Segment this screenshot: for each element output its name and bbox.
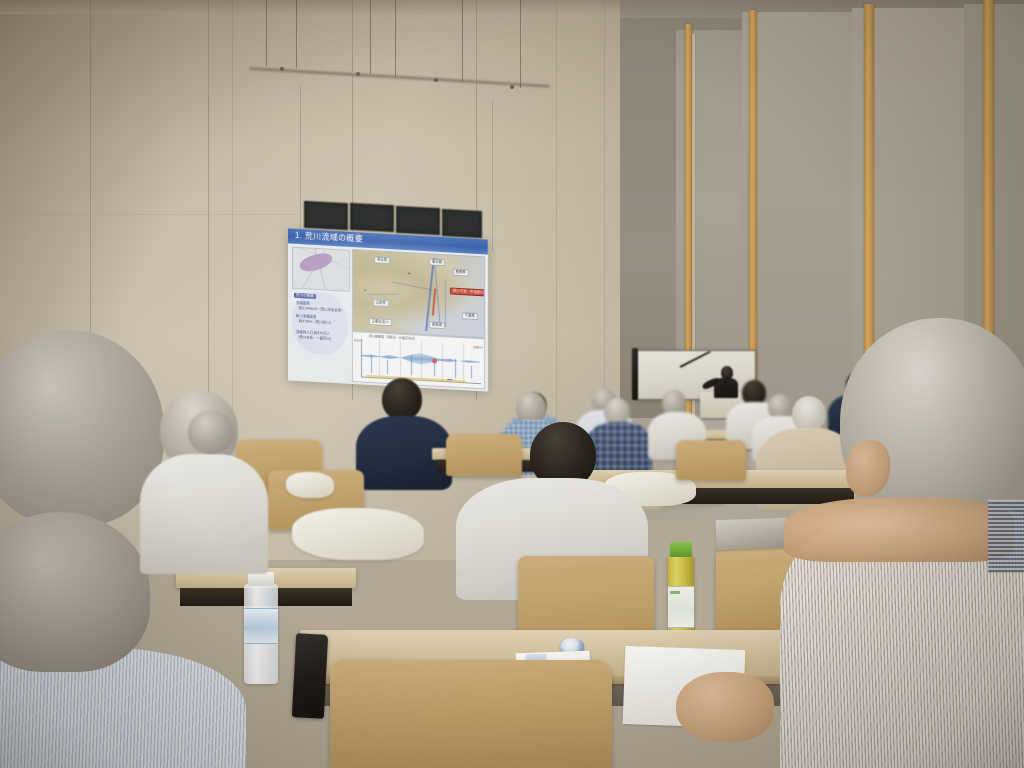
wall-seam bbox=[604, 0, 605, 420]
rail-nub bbox=[510, 85, 514, 89]
whiteboard-frame bbox=[632, 348, 638, 400]
water-bottle-label bbox=[244, 608, 278, 644]
chart-gridline bbox=[442, 343, 443, 382]
chart-gridline bbox=[400, 341, 401, 380]
map-label: 東京都 bbox=[429, 258, 445, 266]
water-bottle-cap bbox=[248, 572, 274, 586]
cloth-bag bbox=[292, 508, 424, 560]
river-highlight-red bbox=[432, 288, 436, 315]
rail-nub bbox=[434, 78, 438, 82]
chart-gridline bbox=[463, 344, 464, 383]
rail-nub bbox=[356, 72, 360, 76]
torso bbox=[140, 454, 268, 574]
chart-spike bbox=[371, 355, 372, 373]
hanger-wire bbox=[462, 0, 463, 82]
green-tea-bottle-label bbox=[668, 586, 694, 628]
slide-mini-map bbox=[292, 247, 350, 292]
screen-drop-wire bbox=[492, 100, 493, 252]
river-line bbox=[369, 293, 398, 294]
rail-nub bbox=[280, 67, 284, 71]
green-tea-bottle-cap bbox=[670, 542, 692, 557]
hanger-wire bbox=[395, 0, 396, 76]
hand bbox=[676, 672, 774, 742]
map-legend-item: 主要な支川 bbox=[369, 318, 392, 326]
slide-body: 埼玉県 東京都 山梨県 長野県 群馬県 千葉県 荒川下流・中流部付近 主要な支川… bbox=[288, 243, 488, 391]
projection-screen[interactable]: 1. 荒川流域の概要 埼玉県 東京都 山梨県 bbox=[288, 228, 488, 391]
wall-panel bbox=[742, 12, 852, 442]
slide-main-map: 埼玉県 東京都 山梨県 長野県 群馬県 千葉県 荒川下流・中流部付近 主要な支川… bbox=[352, 249, 485, 338]
hanger-wire bbox=[520, 0, 521, 88]
black-case bbox=[292, 633, 328, 719]
hanger-wire bbox=[370, 0, 371, 74]
chart-annotation: ■■■ bbox=[447, 378, 452, 381]
screen-blind-segment bbox=[442, 209, 482, 238]
slide-info-heading: 荒川の概要 bbox=[294, 293, 316, 299]
chair-foreground bbox=[330, 660, 612, 768]
chair bbox=[446, 434, 522, 476]
chart-spike bbox=[411, 355, 412, 375]
wall-seam bbox=[232, 0, 233, 440]
screen-drop-wire bbox=[300, 86, 301, 234]
chart-spike bbox=[455, 359, 456, 378]
screen-blind-segment bbox=[350, 203, 394, 232]
lecture-hall-photo: 1. 荒川流域の概要 埼玉県 東京都 山梨県 bbox=[0, 0, 1024, 768]
map-place-text: ◆ bbox=[408, 271, 410, 275]
hanger-wire bbox=[296, 0, 297, 68]
chart-spike bbox=[387, 360, 388, 374]
map-label: 埼玉県 bbox=[374, 256, 390, 264]
map-label: 群馬県 bbox=[429, 321, 445, 329]
chart-axis-label-right: 距離(km) bbox=[473, 345, 483, 350]
screen-blind-segment bbox=[304, 201, 348, 230]
map-place-text: ▲ bbox=[363, 287, 366, 291]
torso bbox=[586, 422, 652, 474]
river-line bbox=[392, 282, 431, 291]
wall-seam-horizontal bbox=[0, 214, 300, 215]
attendee-right-plaid-sleeve bbox=[988, 500, 1024, 572]
head bbox=[604, 398, 630, 425]
river-line bbox=[445, 279, 446, 327]
hanger-wire bbox=[266, 0, 267, 66]
cloth-bag bbox=[286, 472, 334, 498]
label-graphic bbox=[670, 591, 680, 594]
neck bbox=[784, 498, 1014, 562]
map-label: 千葉県 bbox=[462, 312, 478, 320]
chart-y-axis bbox=[361, 338, 362, 377]
chart-gridline bbox=[379, 340, 380, 379]
ceiling-left bbox=[0, 0, 632, 14]
map-label: 山梨県 bbox=[373, 299, 389, 307]
ear bbox=[846, 440, 890, 496]
head bbox=[382, 378, 422, 420]
head bbox=[188, 410, 234, 454]
head bbox=[792, 396, 826, 432]
map-callout: 荒川下流・中流部付近 bbox=[450, 287, 485, 296]
chart-marker bbox=[432, 358, 437, 363]
wall-seam bbox=[556, 0, 557, 420]
chart-spike bbox=[471, 366, 472, 379]
chair bbox=[676, 440, 746, 480]
screen-blind-segment bbox=[396, 206, 440, 235]
chart-title: 荒川縦断図（河床高・計画高水位） bbox=[369, 333, 417, 340]
slide-profile-chart: 荒川縦断図（河床高・計画高水位） 標高(m) 距離(km) bbox=[352, 331, 485, 389]
slide: 1. 荒川流域の概要 埼玉県 東京都 山梨県 bbox=[288, 228, 488, 391]
map-label: 長野県 bbox=[453, 268, 469, 276]
